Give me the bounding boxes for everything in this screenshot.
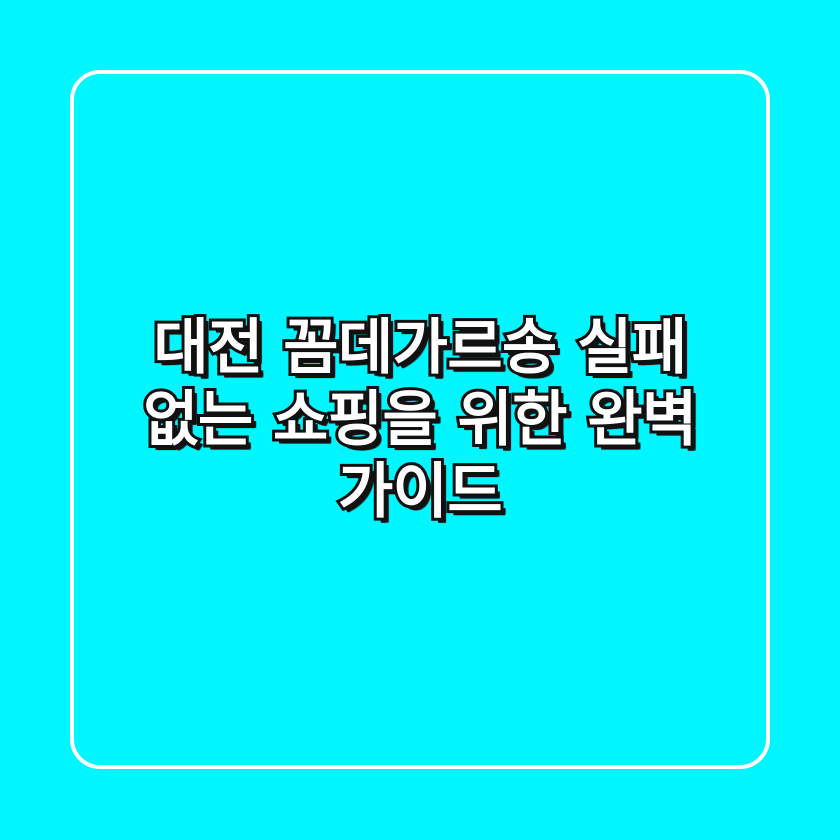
decorative-rounded-frame: [70, 70, 770, 769]
poster-canvas: 대전 꼼데가르송 실패 없는 쇼핑을 위한 완벽 가이드: [0, 0, 840, 840]
